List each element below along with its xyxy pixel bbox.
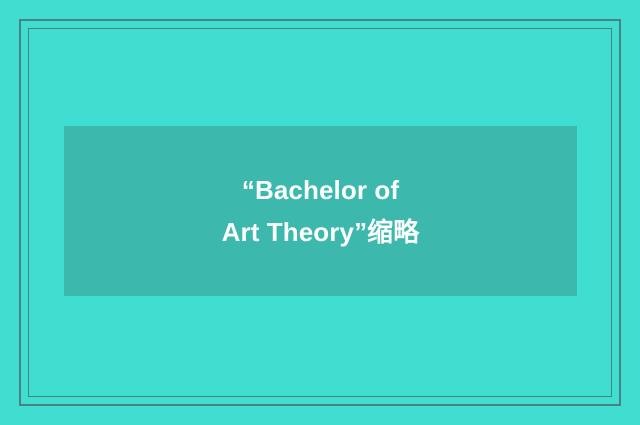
title-line-2: Art Theory”缩略 [222,211,420,253]
title-line-1: “Bachelor of [222,169,420,211]
title-text-block: “Bachelor of Art Theory”缩略 [222,169,420,253]
title-plate: “Bachelor of Art Theory”缩略 [64,126,577,296]
image-card: “Bachelor of Art Theory”缩略 [0,0,640,425]
